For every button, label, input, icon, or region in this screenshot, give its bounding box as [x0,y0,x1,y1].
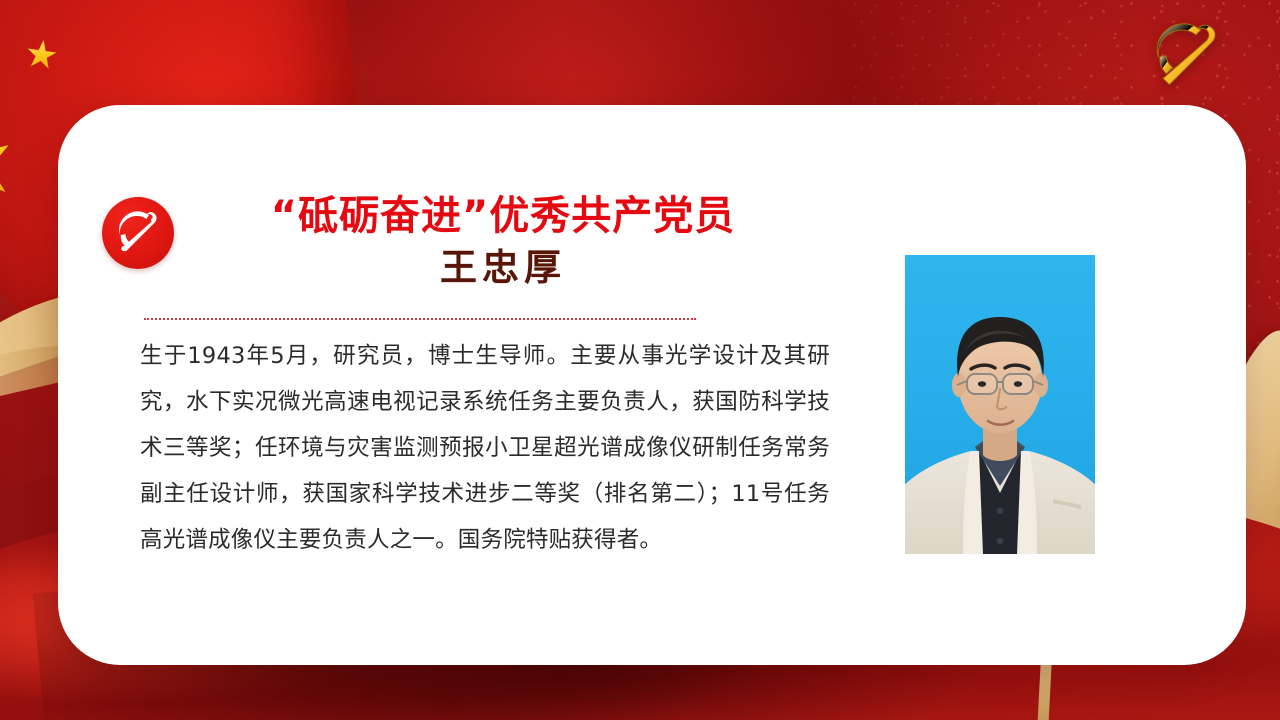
person-name: 王忠厚 [158,244,848,290]
slide-canvas: “砥砺奋进”优秀共产党员 王忠厚 生于1943年5月，研究员，博士生导师。主要从… [0,0,1280,720]
page-title: “砥砺奋进”优秀共产党员 [158,193,848,240]
biography-text: 生于1943年5月，研究员，博士生导师。主要从事光学设计及其研究，水下实况微光高… [140,333,830,563]
flag-star-large [0,118,22,213]
biography-paragraph: 生于1943年5月，研究员，博士生导师。主要从事光学设计及其研究，水下实况微光高… [140,333,830,563]
title-block: “砥砺奋进”优秀共产党员 王忠厚 [158,193,848,290]
content-card: “砥砺奋进”优秀共产党员 王忠厚 生于1943年5月，研究员，博士生导师。主要从… [58,105,1246,665]
portrait-photo [905,255,1095,554]
hammer-and-sickle-icon [1142,16,1228,94]
flag-star-small-1 [25,38,59,72]
dotted-divider [144,318,696,320]
